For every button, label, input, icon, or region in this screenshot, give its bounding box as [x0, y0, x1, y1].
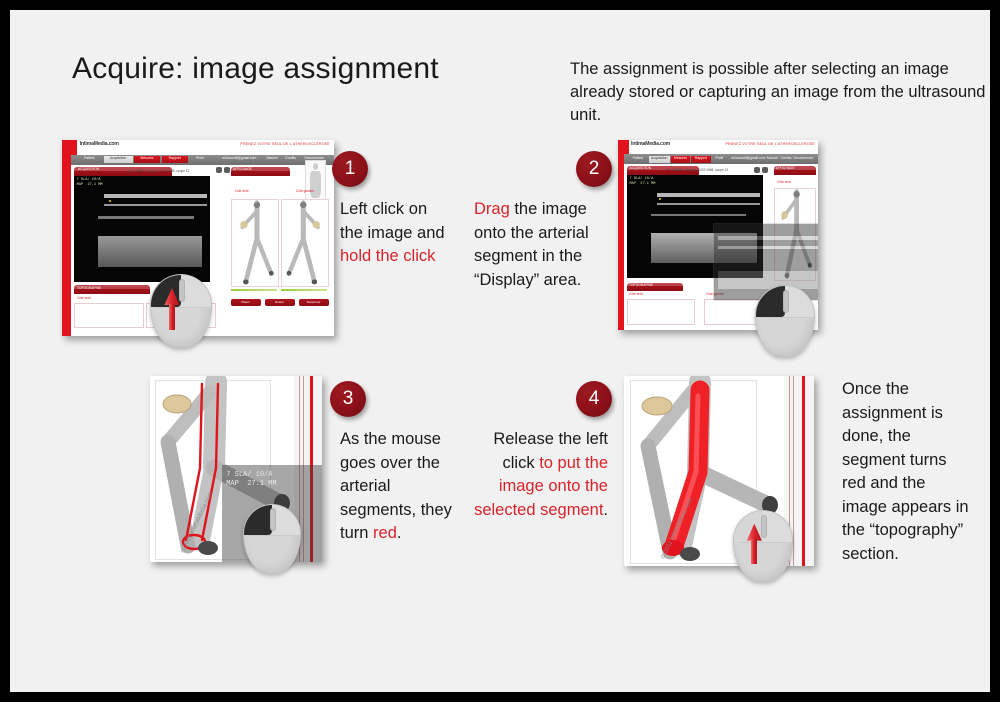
- topography-box-right[interactable]: [627, 299, 695, 326]
- camera-icon[interactable]: [762, 167, 768, 173]
- arrow-stem: [169, 304, 175, 330]
- mouse-right-button: [763, 511, 792, 542]
- caption-3-part-3: .: [397, 524, 402, 542]
- file-label: dev LOMBU, Nicolas, 20/07/1965, coupe 12: [127, 169, 189, 173]
- panel-title-topography: TOPOGRAPHIE: [77, 286, 101, 290]
- nav-item-rapport[interactable]: Rapport: [691, 156, 710, 163]
- ultrasound-overlay-text: 7 SLA/ 10/A MAP 27.1 MM: [630, 177, 656, 187]
- nav-item-manuel[interactable]: Manuel: [263, 156, 281, 163]
- caption-3-part-2: red: [373, 524, 397, 542]
- ghost-echo-1: [718, 236, 818, 240]
- mouse-wheel: [270, 508, 276, 530]
- us-echo-line-3: [98, 216, 193, 218]
- nav-item-profil[interactable]: Profil: [712, 156, 727, 163]
- nav-item-credits[interactable]: Credits: [281, 156, 299, 163]
- panel-header-display: AFFICHAGE: [774, 166, 816, 175]
- nav-item-patient[interactable]: Patient: [628, 156, 647, 163]
- mouse-cursor-step-3: [243, 504, 299, 572]
- panel-title-acquisition: ACQUISITION: [630, 166, 651, 170]
- mouse-body: [243, 504, 301, 574]
- app-left-accent-bar: [618, 140, 624, 330]
- file-label: dev LOMBU, Nicolas, 20/07/1965, coupe 12: [666, 168, 728, 172]
- nav-item-mesures[interactable]: Mesures: [671, 156, 690, 163]
- nav-item-acquisition[interactable]: Acquisition: [104, 156, 133, 163]
- ultrasound-overlay-text: 7 SLA/ 10/A MAP 27.1 MM: [77, 178, 103, 188]
- display-label-cote-droit: Côté droit: [235, 189, 249, 193]
- mouse-left-button: [756, 286, 785, 317]
- us-echo-line-1: [104, 194, 207, 198]
- label-cote-droit: Côté droit: [77, 296, 91, 300]
- app-logo: IntimaMedia.com: [631, 141, 670, 147]
- mouse-body: [150, 274, 212, 348]
- nav-item-rapport[interactable]: Rapport: [162, 156, 188, 163]
- step-caption-3: As the mouse goes over the arterial segm…: [340, 428, 456, 546]
- step-badge-1: 1: [332, 151, 368, 187]
- step-caption-4: Release the left click to put the image …: [472, 428, 608, 522]
- progress-bar-right: [231, 289, 277, 291]
- us-echo-line-2: [104, 204, 207, 206]
- step-caption-1: Left click on the image and hold the cli…: [340, 198, 450, 269]
- mouse-seam: [248, 535, 295, 536]
- mouse-seam: [761, 317, 810, 318]
- progress-bar-left: [281, 289, 327, 291]
- caption-4-part-3: .: [603, 501, 608, 519]
- caption-2-part-1: Drag: [474, 200, 510, 218]
- nav-item-manuel[interactable]: Manuel: [766, 156, 780, 163]
- display-label-cote-droit: Côté droit: [777, 180, 791, 184]
- us-echo-line-1: [657, 193, 760, 197]
- us-marker-dot: [659, 198, 661, 200]
- page-title: Acquire: image assignment: [72, 52, 439, 86]
- step-caption-2: Drag the image onto the arterial segment…: [474, 198, 594, 292]
- app-logo: IntimaMedia.com: [80, 141, 119, 147]
- step-badge-2: 2: [576, 151, 612, 187]
- nav-item-credits[interactable]: Credits: [779, 156, 793, 163]
- intro-paragraph: The assignment is possible after selecti…: [570, 58, 990, 127]
- nav-item-patient[interactable]: Patient: [76, 156, 102, 163]
- mouse-left-button: [244, 505, 272, 535]
- us-marker-dot: [109, 200, 111, 202]
- app-tagline: PRENEZ VOTRE SEUL DE L'ATHEROSCLEROSE: [240, 142, 330, 146]
- us-echo-line-2: [657, 203, 760, 205]
- panel-title-acquisition: ACQUISITION: [78, 167, 99, 171]
- mouse-cursor-step-4: [733, 510, 791, 580]
- mouse-right-button: [785, 286, 814, 317]
- logo-block: [618, 140, 629, 154]
- mouse-body: [733, 510, 793, 582]
- panel-header-topography: TOPOGRAPHIE: [74, 285, 150, 294]
- ghost-echo-2: [718, 246, 818, 248]
- mouse-right-button: [272, 505, 300, 535]
- step-badge-3: 3: [330, 381, 366, 417]
- app-tagline: PRENEZ VOTRE SEUL DE L'ATHEROSCLEROSE: [725, 142, 815, 146]
- app-navbar[interactable]: Patient Acquisition Mesures Rapport Prof…: [624, 154, 818, 164]
- globe-icon[interactable]: [754, 167, 760, 173]
- label-cote-droit: Côté droit: [629, 292, 643, 296]
- artery-tree-left[interactable]: [281, 199, 329, 287]
- topography-box-right[interactable]: [74, 303, 144, 329]
- app-left-accent-bar: [62, 140, 71, 336]
- action-button-placer[interactable]: Placer: [231, 299, 261, 306]
- closing-note: Once the assignment is done, the segment…: [842, 378, 970, 566]
- logo-block: [62, 140, 77, 155]
- slide: Acquire: image assignment The assignment…: [10, 10, 990, 692]
- mouse-cursor-step-2: [755, 285, 813, 355]
- caption-4-part-2: to put the image onto the selected segme…: [474, 454, 608, 519]
- nav-item-profil[interactable]: Profil: [189, 156, 210, 163]
- action-button-supprimer[interactable]: Supprimer: [299, 299, 329, 306]
- panel-header-display: AFFICHAGE: [231, 167, 291, 176]
- artery-tree-svg: [282, 200, 328, 286]
- arrow-stem: [751, 539, 757, 564]
- mouse-right-button: [181, 275, 211, 307]
- globe-icon[interactable]: [216, 167, 222, 173]
- caption-1-part-2: hold the click: [340, 247, 435, 265]
- panel-title-display: AFFICHAGE: [233, 167, 252, 171]
- panel-title-display: AFFICHAGE: [776, 166, 795, 170]
- artery-tree-right[interactable]: [231, 199, 279, 287]
- up-arrow-icon: [747, 524, 762, 565]
- overlay-text: 7 SLA/ 10/A MAP 27.1 MM: [226, 471, 276, 489]
- artery-tree-svg: [232, 200, 278, 286]
- app-navbar[interactable]: Patient Acquisition Mesures Rapport Prof…: [71, 155, 334, 165]
- mouse-body: [755, 285, 815, 357]
- mouse-wheel: [783, 290, 790, 313]
- mouse-cursor-step-1: [150, 274, 210, 346]
- panel-title-topography: TOPOGRAPHIE: [629, 283, 653, 287]
- us-tissue-band: [98, 236, 201, 268]
- display-label-cote-gauche: Côté gauche: [296, 189, 314, 193]
- action-button-retirer[interactable]: Retirer: [265, 299, 295, 306]
- nav-item-deconnexion[interactable]: Deconnexion: [793, 156, 814, 163]
- nav-item-account-email[interactable]: m2consult@gmail.com: [731, 156, 766, 163]
- ultrasound-image[interactable]: 7 SLA/ 10/A MAP 27.1 MM: [74, 176, 210, 282]
- camera-icon[interactable]: [224, 167, 230, 173]
- us-echo-line-3: [651, 214, 746, 216]
- nav-item-account-email[interactable]: m2consult@gmail.com: [216, 156, 263, 163]
- nav-item-acquisition[interactable]: Acquisition: [649, 156, 670, 163]
- step-badge-4: 4: [576, 381, 612, 417]
- nav-item-mesures[interactable]: Mesures: [134, 156, 160, 163]
- panel-header-topography: TOPOGRAPHIE: [627, 283, 683, 292]
- caption-1-part-1: Left click on the image and: [340, 200, 445, 242]
- up-arrow-icon: [164, 288, 180, 330]
